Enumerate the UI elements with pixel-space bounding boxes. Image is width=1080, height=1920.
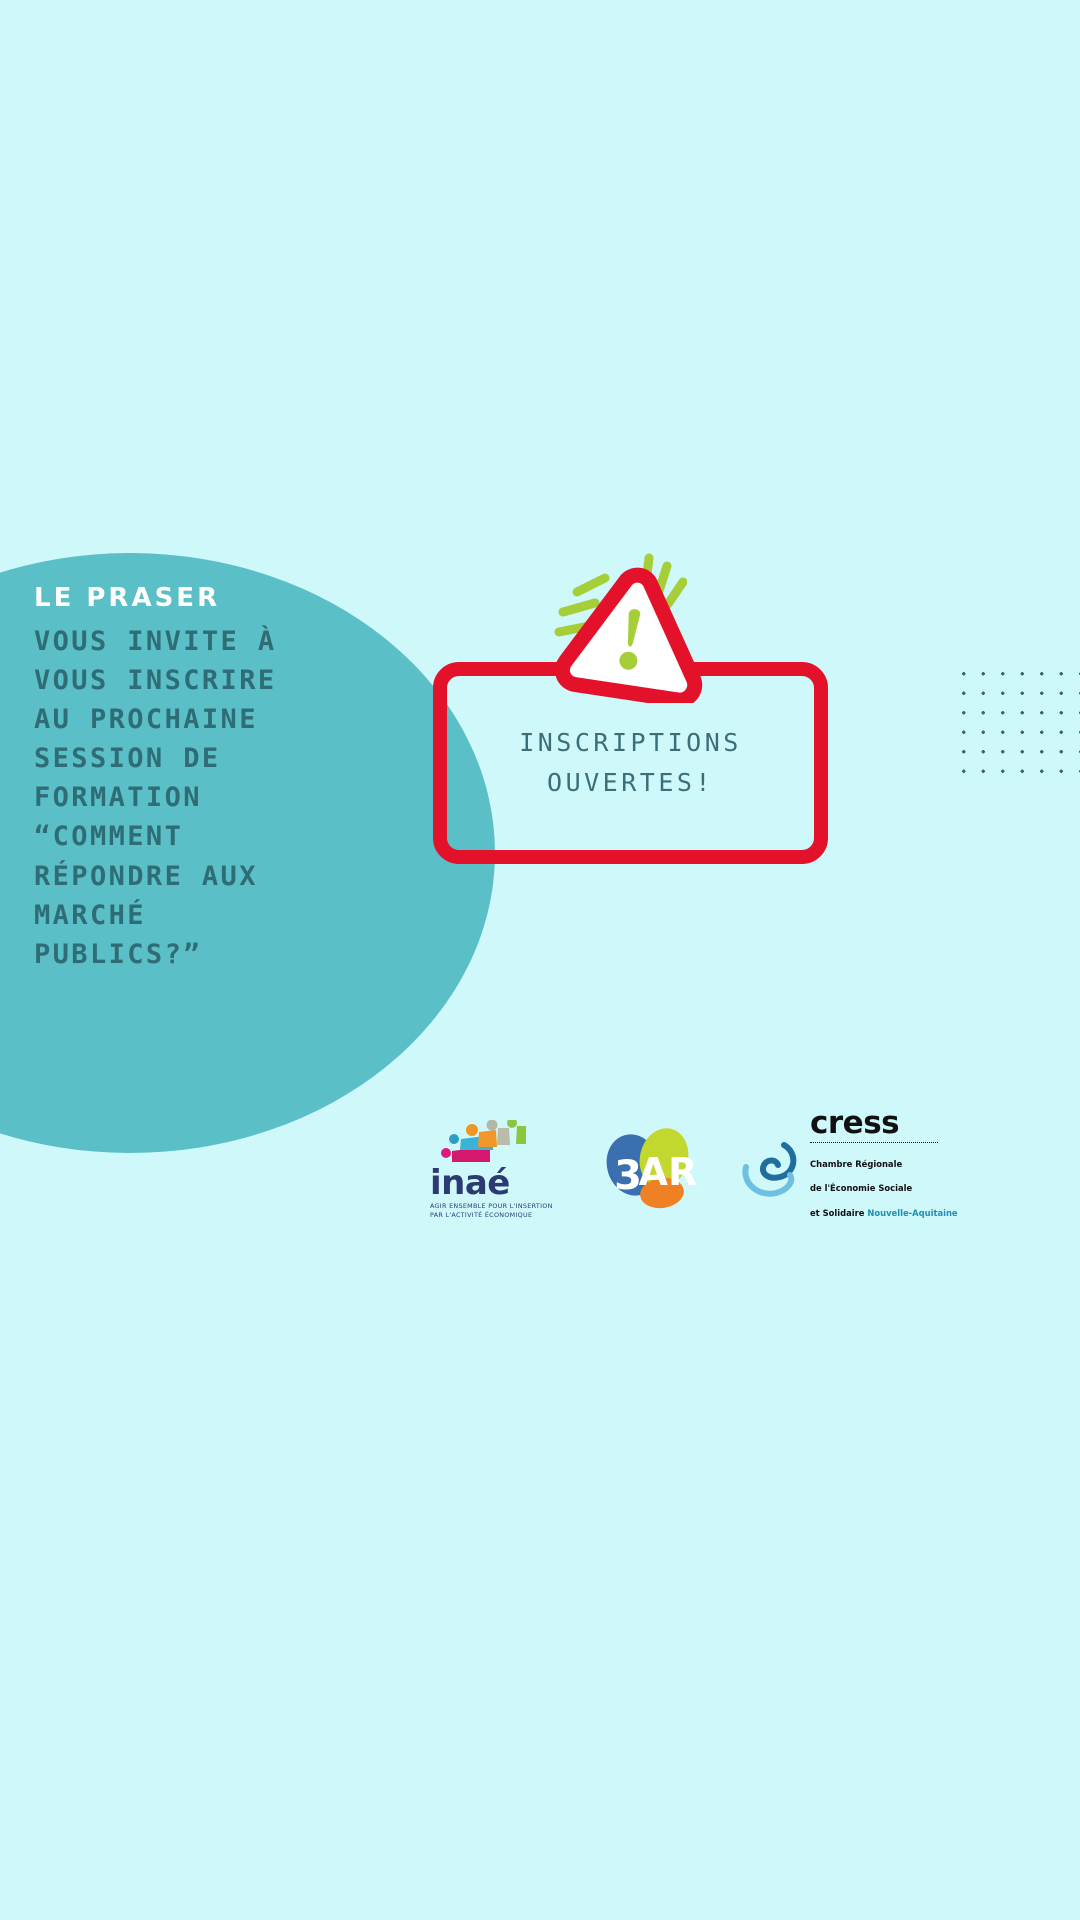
logo-inae: inaé AGIR ENSEMBLE POUR L'INSERTION PAR … (430, 1120, 560, 1220)
logo-cress: cress Chambre Régionale de l'Économie So… (740, 1109, 958, 1231)
dot-grid-pattern (950, 660, 1080, 782)
poster-canvas: LE PRASER VOUS INVITE À VOUS INSCRIRE AU… (0, 0, 1080, 1920)
partner-logos-row: inaé AGIR ENSEMBLE POUR L'INSERTION PAR … (430, 1115, 1070, 1225)
cress-subtitle-prefix: et Solidaire (810, 1208, 867, 1218)
cress-subtitle-line-1: Chambre Régionale (810, 1158, 958, 1170)
cress-subtitle-line-3: et Solidaire Nouvelle-Aquitaine (810, 1207, 958, 1219)
left-text-block: LE PRASER VOUS INVITE À VOUS INSCRIRE AU… (34, 583, 364, 974)
cress-wordmark: cress (810, 1109, 958, 1138)
callout-line-2: OUVERTES! (547, 766, 714, 800)
cress-region-label: Nouvelle-Aquitaine (867, 1208, 957, 1218)
callout-line-1: INSCRIPTIONS (519, 726, 742, 760)
inae-tagline: AGIR ENSEMBLE POUR L'INSERTION PAR L'ACT… (430, 1202, 560, 1221)
cress-divider (810, 1142, 938, 1143)
logo-3ar-letters: AR (639, 1150, 698, 1194)
cress-subtitle: Chambre Régionale de l'Économie Sociale … (810, 1146, 958, 1231)
headline-text: VOUS INVITE À VOUS INSCRIRE AU PROCHAINE… (34, 622, 364, 974)
warning-triangle-exclamation-icon (556, 567, 708, 703)
inae-wordmark: inaé (430, 1168, 560, 1199)
cress-swirl-icon (740, 1139, 804, 1201)
page-title: LE PRASER (34, 583, 364, 614)
logo-3ar: 3 AR (600, 1127, 700, 1213)
inae-people-icon (430, 1120, 560, 1166)
cress-subtitle-line-2: de l'Économie Sociale (810, 1182, 958, 1194)
